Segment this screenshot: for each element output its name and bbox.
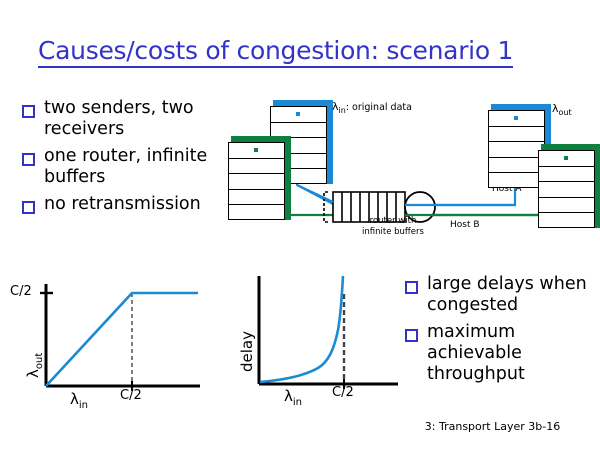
x-tick-label: C/2: [332, 385, 354, 400]
router-caption-line2: infinite buffers: [328, 227, 458, 238]
receiver-b-sidebar: [595, 144, 600, 228]
x-tick-label: C/2: [120, 388, 142, 403]
list-item-label: two senders, two receivers: [44, 98, 232, 140]
list-item-label: one router, infinite buffers: [44, 146, 232, 188]
y-tick-label: C/2: [10, 284, 32, 299]
page-title-text: Causes/costs of congestion: scenario 1: [38, 36, 513, 68]
y-axis-label: λout: [24, 353, 45, 378]
bullet-list-observations: large delays when congested maximum achi…: [405, 274, 600, 391]
list-item: large delays when congested: [405, 274, 600, 316]
lambda-in-subscript: in: [339, 106, 346, 115]
slide: Causes/costs of congestion: scenario 1 t…: [0, 0, 600, 450]
x-axis-label-symbol: λ: [70, 390, 79, 408]
host-b: [228, 142, 288, 220]
y-axis-label: delay: [238, 331, 256, 372]
x-axis-label-subscript: in: [79, 400, 88, 411]
bullet-square-icon: [22, 201, 35, 214]
chart-throughput: C/2 C/2 λout λin: [8, 278, 208, 413]
network-diagram: Host A Host B: [220, 88, 600, 248]
bullet-square-icon: [405, 329, 418, 342]
lambda-out-subscript: out: [559, 108, 572, 117]
page-title: Causes/costs of congestion: scenario 1: [38, 36, 558, 65]
receiver-a-stack: [488, 110, 545, 188]
chart-throughput-canvas: [8, 278, 208, 413]
receiver-b-stack: [538, 150, 595, 228]
series-throughput: [46, 293, 198, 386]
bullet-square-icon: [405, 281, 418, 294]
lambda-in-label: λin: original data: [332, 100, 412, 115]
router-caption-line1: router with: [328, 216, 458, 227]
receiver-a-marker: [514, 116, 518, 120]
receiver-b-marker: [564, 156, 568, 160]
x-axis-label: λin: [284, 387, 302, 408]
bullet-list-assumptions: two senders, two receivers one router, i…: [22, 98, 232, 221]
host-a-marker: [296, 112, 300, 116]
host-b-sidebar: [285, 136, 291, 220]
list-item-label: large delays when congested: [427, 274, 600, 316]
list-item: maximum achievable throughput: [405, 322, 600, 385]
host-b-marker: [254, 148, 258, 152]
lambda-out-label: λout: [552, 102, 572, 117]
host-b-stack: [228, 142, 285, 220]
list-item-label: maximum achievable throughput: [427, 322, 600, 385]
list-item: one router, infinite buffers: [22, 146, 232, 188]
router-caption: router with infinite buffers: [328, 216, 458, 238]
x-axis-label: λin: [70, 390, 88, 411]
y-axis-label-subscript: out: [34, 353, 45, 369]
series-delay: [260, 276, 343, 382]
chart-delay: C/2 delay λin: [222, 272, 402, 412]
lambda-in-note: : original data: [346, 102, 412, 113]
y-axis-label-symbol: λ: [24, 369, 42, 378]
slide-footer: 3: Transport Layer 3b-16: [400, 420, 585, 433]
list-item: two senders, two receivers: [22, 98, 232, 140]
list-item-label: no retransmission: [44, 194, 201, 215]
bullet-square-icon: [22, 153, 35, 166]
x-axis-label-symbol: λ: [284, 387, 293, 405]
list-item: no retransmission: [22, 194, 232, 215]
receiver-b: [538, 150, 598, 228]
bullet-square-icon: [22, 105, 35, 118]
x-axis-label-subscript: in: [293, 397, 302, 408]
